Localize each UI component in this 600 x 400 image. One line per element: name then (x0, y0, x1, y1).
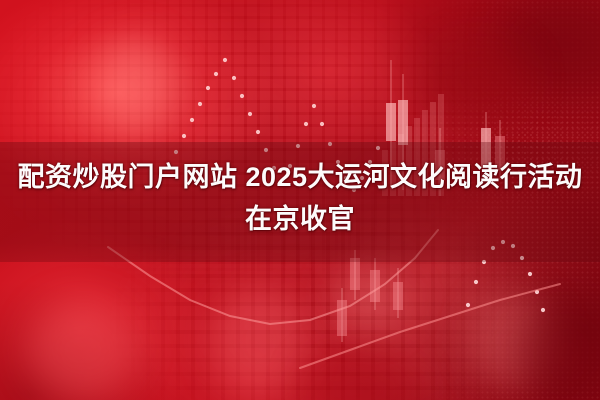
blob-left-bright (96, 36, 174, 132)
data-point-dot (223, 58, 227, 62)
headline-text: 配资炒股门户网站 2025大运河文化阅读行活动在京收官 (0, 156, 600, 240)
data-point-dot (206, 86, 210, 90)
candle-body (370, 270, 380, 302)
blob-center-dark (430, 40, 530, 120)
data-point-dot (190, 118, 194, 122)
data-point-dot (248, 112, 252, 116)
data-point-dot (474, 280, 478, 284)
blob-mid-soft (210, 286, 306, 396)
blob-right-dark (520, 300, 600, 400)
candle-body (393, 282, 403, 310)
data-point-dot (320, 122, 324, 126)
blob-top-right-dark (500, 0, 600, 90)
data-point-dot (535, 290, 539, 294)
data-point-dot (240, 94, 244, 98)
data-point-dot (528, 272, 532, 276)
candle-body (386, 103, 396, 141)
data-point-dot (312, 104, 316, 108)
trend-line (300, 284, 560, 368)
candle-body (398, 100, 408, 145)
candle-body (350, 258, 360, 290)
blob-right-warm (470, 292, 556, 388)
data-point-dot (182, 134, 186, 138)
blob-bottom-mid (300, 350, 420, 400)
data-point-dot (198, 102, 202, 106)
promo-banner: 配资炒股门户网站 2025大运河文化阅读行活动在京收官 (0, 0, 600, 400)
blob-band-light (330, 262, 410, 332)
data-point-dot (214, 72, 218, 76)
candle-body (337, 300, 347, 336)
data-point-dot (304, 122, 308, 126)
blob-lower-left (28, 300, 138, 400)
data-point-dot (232, 76, 236, 80)
data-point-dot (256, 130, 260, 134)
data-point-dot (466, 303, 470, 307)
data-point-dot (541, 308, 545, 312)
